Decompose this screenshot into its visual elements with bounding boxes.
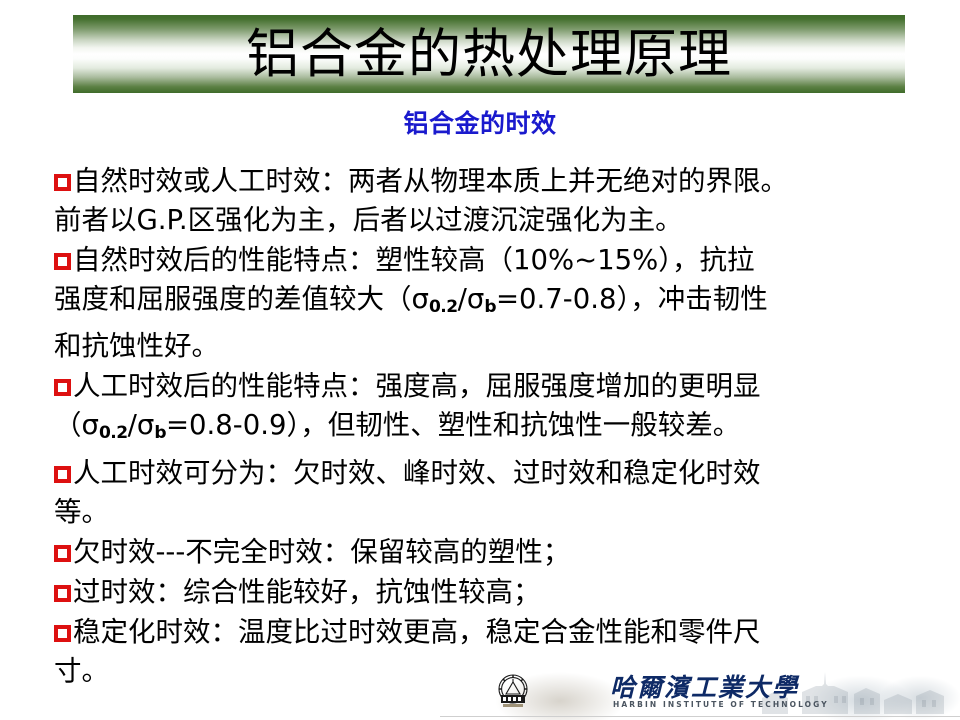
bullet-line: 人工时效后的性能特点：强度高，屈服强度增加的更明显 (73, 370, 761, 402)
bullet-marker-icon (54, 253, 71, 270)
bullet-marker-icon (54, 379, 71, 396)
bullet-line: 和抗蚀性好。 (54, 330, 219, 362)
fraction-slash: / (458, 283, 467, 315)
bullet-line: =0.7-0.8），冲击韧性 (496, 283, 768, 315)
university-name-cn: 哈爾濱工業大學 (610, 668, 799, 704)
sigma-subscript-02: 0.2 (429, 297, 458, 317)
bullet-line: 自然时效后的性能特点：塑性较高（10%~15%），抗拉 (73, 244, 755, 276)
bullet-line: 寸。 (54, 655, 109, 687)
bullet-line: （ (54, 409, 82, 441)
sigma-subscript-02: 0.2 (99, 423, 128, 443)
bullet-line: 欠时效---不完全时效：保留较高的塑性； (73, 536, 570, 568)
bullet-item-over-aging: 过时效：综合性能较好，抗蚀性较高； (54, 573, 930, 612)
bullet-item-natural-vs-artificial-aging: 自然时效或人工时效：两者从物理本质上并无绝对的界限。 前者以G.P.区强化为主，… (54, 162, 930, 240)
sigma-symbol: σ (467, 283, 484, 315)
footer-branding: 哈爾濱工業大學 HARBIN INSTITUTE OF TECHNOLOGY (440, 656, 960, 720)
footer-divider (440, 716, 960, 717)
bullet-list: 自然时效或人工时效：两者从物理本质上并无绝对的界限。 前者以G.P.区强化为主，… (54, 162, 930, 692)
hit-seal-icon (492, 670, 534, 710)
bullet-line: 前者以G.P.区强化为主，后者以过渡沉淀强化为主。 (54, 204, 683, 236)
sigma-symbol: σ (82, 409, 99, 441)
bullet-item-artificial-aging-types: 人工时效可分为：欠时效、峰时效、过时效和稳定化时效 等。 (54, 454, 930, 532)
sigma-symbol: σ (137, 409, 154, 441)
page-title: 铝合金的热处理原理 (73, 15, 905, 93)
bullet-line: 人工时效可分为：欠时效、峰时效、过时效和稳定化时效 (73, 457, 761, 489)
bullet-marker-icon (54, 174, 71, 191)
bullet-line: 过时效：综合性能较好，抗蚀性较高； (73, 576, 541, 608)
bullet-marker-icon (54, 466, 71, 483)
bullet-line: 等。 (54, 496, 109, 528)
bullet-line: 自然时效或人工时效：两者从物理本质上并无绝对的界限。 (73, 165, 788, 197)
university-name-en: HARBIN INSTITUTE OF TECHNOLOGY (613, 700, 829, 709)
presentation-slide: 铝合金的热处理原理 铝合金的时效 自然时效或人工时效：两者从物理本质上并无绝对的… (0, 0, 960, 720)
sigma-symbol: σ (412, 283, 429, 315)
fraction-slash: / (128, 409, 137, 441)
bullet-item-artificial-aging-properties: 人工时效后的性能特点：强度高，屈服强度增加的更明显 （σ0.2/σb=0.8-0… (54, 367, 930, 453)
bullet-line: 稳定化时效：温度比过时效更高，稳定合金性能和零件尺 (73, 616, 761, 648)
bullet-marker-icon (54, 585, 71, 602)
bullet-line: 强度和屈服强度的差值较大（ (54, 283, 412, 315)
bullet-marker-icon (54, 625, 71, 642)
sigma-subscript-b: b (484, 297, 496, 317)
bullet-marker-icon (54, 545, 71, 562)
bullet-item-under-aging: 欠时效---不完全时效：保留较高的塑性； (54, 533, 930, 572)
bullet-item-natural-aging-properties: 自然时效后的性能特点：塑性较高（10%~15%），抗拉 强度和屈服强度的差值较大… (54, 241, 930, 366)
bullet-line: =0.8-0.9），但韧性、塑性和抗蚀性一般较差。 (166, 409, 740, 441)
slide-subtitle: 铝合金的时效 (0, 110, 960, 138)
sigma-subscript-b: b (154, 423, 166, 443)
